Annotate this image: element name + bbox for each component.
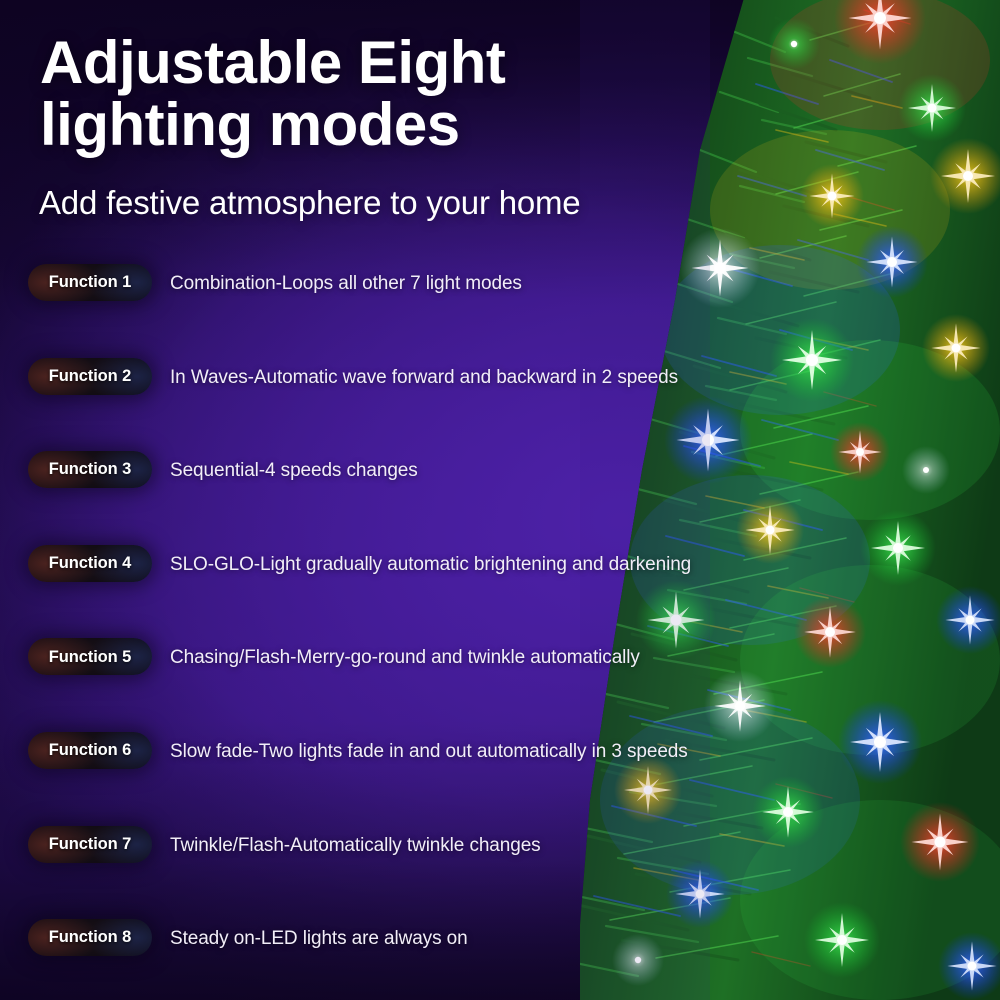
function-description: In Waves-Automatic wave forward and back… <box>170 366 678 390</box>
list-item: Function 1 Combination-Loops all other 7… <box>0 264 680 358</box>
function-description: Twinkle/Flash-Automatically twinkle chan… <box>170 834 541 858</box>
page-subtitle: Add festive atmosphere to your home <box>39 185 659 222</box>
function-badge-label: Function 2 <box>49 368 131 385</box>
page-title: Adjustable Eight lighting modes <box>40 32 660 156</box>
function-badge: Function 3 <box>28 451 152 488</box>
function-badge-label: Function 7 <box>49 836 131 853</box>
poster-text-content: Adjustable Eight lighting modes Add fest… <box>0 0 680 1000</box>
function-badge-label: Function 4 <box>49 555 131 572</box>
list-item: Function 3 Sequential-4 speeds changes <box>0 451 680 545</box>
list-item: Function 4 SLO-GLO-Light gradually autom… <box>0 545 680 639</box>
function-description: Steady on-LED lights are always on <box>170 927 468 951</box>
function-description: Slow fade-Two lights fade in and out aut… <box>170 740 688 764</box>
function-description: SLO-GLO-Light gradually automatic bright… <box>170 553 691 577</box>
function-badge: Function 4 <box>28 545 152 582</box>
function-badge-label: Function 1 <box>49 274 131 291</box>
function-list: Function 1 Combination-Loops all other 7… <box>0 264 680 1000</box>
function-badge-label: Function 3 <box>49 461 131 478</box>
function-badge: Function 6 <box>28 732 152 769</box>
function-badge: Function 1 <box>28 264 152 301</box>
list-item: Function 7 Twinkle/Flash-Automatically t… <box>0 826 680 920</box>
product-feature-poster: Adjustable Eight lighting modes Add fest… <box>0 0 1000 1000</box>
function-badge-label: Function 6 <box>49 742 131 759</box>
function-description: Chasing/Flash-Merry-go-round and twinkle… <box>170 646 640 670</box>
function-description: Combination-Loops all other 7 light mode… <box>170 272 522 296</box>
function-badge: Function 8 <box>28 919 152 956</box>
list-item: Function 2 In Waves-Automatic wave forwa… <box>0 358 680 452</box>
list-item: Function 8 Steady on-LED lights are alwa… <box>0 919 680 1000</box>
function-description: Sequential-4 speeds changes <box>170 459 418 483</box>
list-item: Function 5 Chasing/Flash-Merry-go-round … <box>0 638 680 732</box>
function-badge: Function 7 <box>28 826 152 863</box>
function-badge: Function 5 <box>28 638 152 675</box>
list-item: Function 6 Slow fade-Two lights fade in … <box>0 732 680 826</box>
function-badge-label: Function 5 <box>49 649 131 666</box>
function-badge-label: Function 8 <box>49 929 131 946</box>
function-badge: Function 2 <box>28 358 152 395</box>
